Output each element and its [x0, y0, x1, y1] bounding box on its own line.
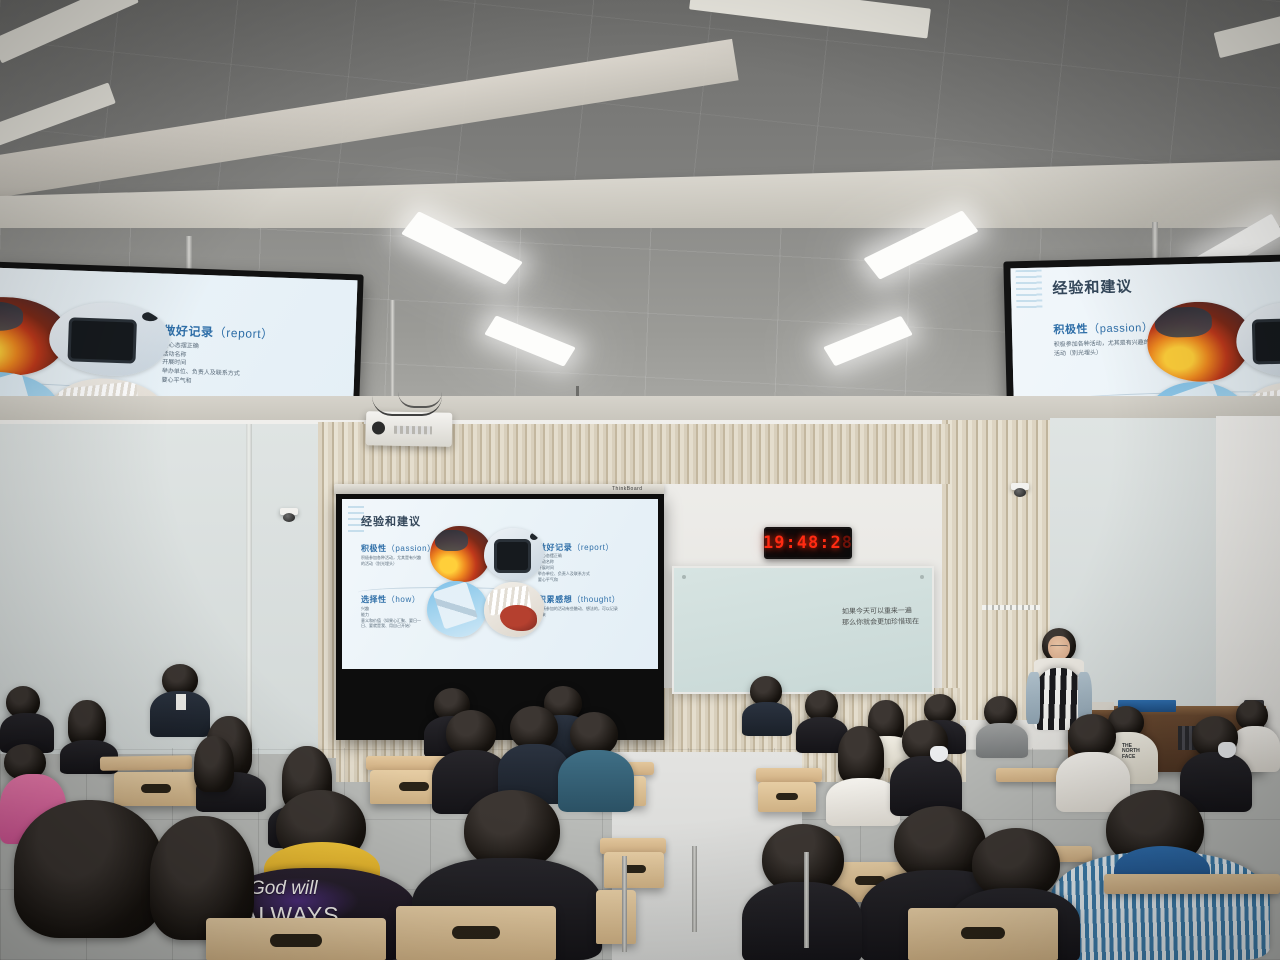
- student-head: [838, 726, 884, 784]
- digital-wall-clock: 19:48:28: [764, 527, 852, 559]
- front-whiteboard[interactable]: 如果今天可以重来一遍 那么你就会更加珍惜现在: [672, 566, 934, 694]
- presenter-left-sleeve: [1026, 672, 1040, 724]
- seatback-foreground: [396, 906, 556, 960]
- seat-handle-slot: [961, 927, 1005, 939]
- projector-lens-icon: [372, 421, 385, 434]
- projection-screen-surface: 经验和建议 积极性（passion） 积极参加各种活动，尤其是有兴趣的活动（别光…: [342, 499, 658, 669]
- slide-image-fire: [430, 526, 490, 582]
- slide-image-tablet: [484, 528, 544, 581]
- student-body: [742, 882, 862, 960]
- student-back-5: [976, 696, 1028, 756]
- student-body: [976, 723, 1028, 758]
- student-body: [742, 702, 792, 736]
- slide-image-book: [484, 582, 544, 636]
- whiteboard-screw: [682, 575, 686, 579]
- seat-handle-slot: [452, 926, 500, 939]
- presenter-glasses-icon: [1050, 645, 1068, 650]
- projector-ports: [394, 426, 432, 435]
- ceiling-projector: [366, 411, 453, 446]
- projected-slide: 经验和建议 积极性（passion） 积极参加各种活动，尤其是有兴趣的活动（别光…: [342, 499, 658, 669]
- dome-camera-right-icon: [1014, 488, 1026, 497]
- seatback-foreground-4: [908, 908, 1058, 960]
- student-right-2: [890, 720, 962, 814]
- desk-leg: [622, 856, 627, 952]
- classroom-photo: 经验和建议 积极性（passion） 积极参加各种活动，尤其是有兴趣的活动（别光…: [0, 0, 1280, 960]
- slide-body-report: 要心态摆正确 活动名称 开展时间 举办单位、负责人及联系方式 要心平气和: [538, 553, 626, 582]
- slide-image-tablet: [1235, 301, 1280, 378]
- right-wall-corner: [1216, 416, 1280, 726]
- slide-image-tablet: [48, 301, 170, 378]
- desk-foreground-right: [1104, 874, 1280, 894]
- slide-title: 经验和建议: [361, 513, 421, 529]
- slide-image-stairs: [427, 581, 487, 637]
- projector-mount-pole: [390, 300, 395, 408]
- slide-body-thought: 对所参加的活动有些触动、想法的，可以记录下来: [538, 606, 620, 618]
- student-shirt-collar: [176, 694, 186, 710]
- slide-body-passion: 积极参加各种活动，尤其是有兴趣的活动（别光埋头）: [361, 555, 424, 567]
- desk-row-mid-left: [100, 755, 192, 771]
- dome-camera-left-icon: [283, 513, 295, 522]
- left-wall-panel-2: [252, 424, 318, 754]
- desk-leg: [692, 846, 697, 932]
- desk-row-right-1: [756, 768, 822, 782]
- screen-case-logo: ThinkBoard: [612, 486, 643, 492]
- seatback: [604, 852, 664, 888]
- seatback-foreground-3: [596, 890, 636, 944]
- student-back-left: [742, 676, 792, 732]
- slide-body-how: 兴趣 能力 意义和价值（如果心汇聚、要日一日、要就是我、用自己开始）: [361, 606, 427, 629]
- projection-screen[interactable]: 经验和建议 积极性（passion） 积极参加各种活动，尤其是有兴趣的活动（别光…: [336, 494, 664, 740]
- student-front-right-3: [742, 824, 862, 960]
- whiteboard-handwriting: 如果今天可以重来一遍 那么你就会更加珍惜现在: [842, 605, 919, 627]
- coat-hook-strip: [982, 605, 1040, 610]
- face-mask-icon: [1218, 742, 1236, 758]
- seatback-foreground-2: [206, 918, 386, 960]
- whiteboard-handwriting-line-1: 如果今天可以重来一遍: [842, 605, 919, 617]
- slide-body-report: 要心态摆正确 活动名称 开展时间 举办单位、负责人及联系方式 要心平气和: [161, 341, 312, 390]
- slide-accent-mark: [1015, 270, 1042, 312]
- student-left-glasses: [0, 686, 54, 750]
- seat-handle-slot: [141, 784, 171, 793]
- slide-heading-passion: 积极性（passion）: [361, 543, 436, 554]
- clock-time-text: 19:48:28: [763, 533, 853, 553]
- desk-leg: [804, 852, 809, 948]
- seat-handle-slot: [270, 934, 322, 947]
- projection-screen-case: ThinkBoard: [334, 484, 664, 494]
- slide-title: 经验和建议: [1052, 275, 1133, 298]
- seat-handle-slot: [776, 793, 798, 800]
- slide-heading-thought: 积累感想（thought）: [538, 594, 621, 605]
- slide-heading-report: 做好记录（report）: [538, 542, 614, 553]
- seatback: [758, 782, 816, 812]
- student-head: [194, 736, 234, 792]
- whiteboard-handwriting-line-2: 那么你就会更加珍惜现在: [842, 616, 919, 628]
- student-head: [14, 800, 164, 938]
- face-mask-icon: [930, 746, 948, 762]
- slide-heading-report: 做好记录（report）: [163, 322, 274, 343]
- whiteboard-screw: [920, 575, 924, 579]
- slide-heading-passion: 积极性（passion）: [1053, 318, 1154, 336]
- slide-body-passion: 积极参加各种活动，尤其是有兴趣的活动（别光埋头）: [1054, 339, 1153, 359]
